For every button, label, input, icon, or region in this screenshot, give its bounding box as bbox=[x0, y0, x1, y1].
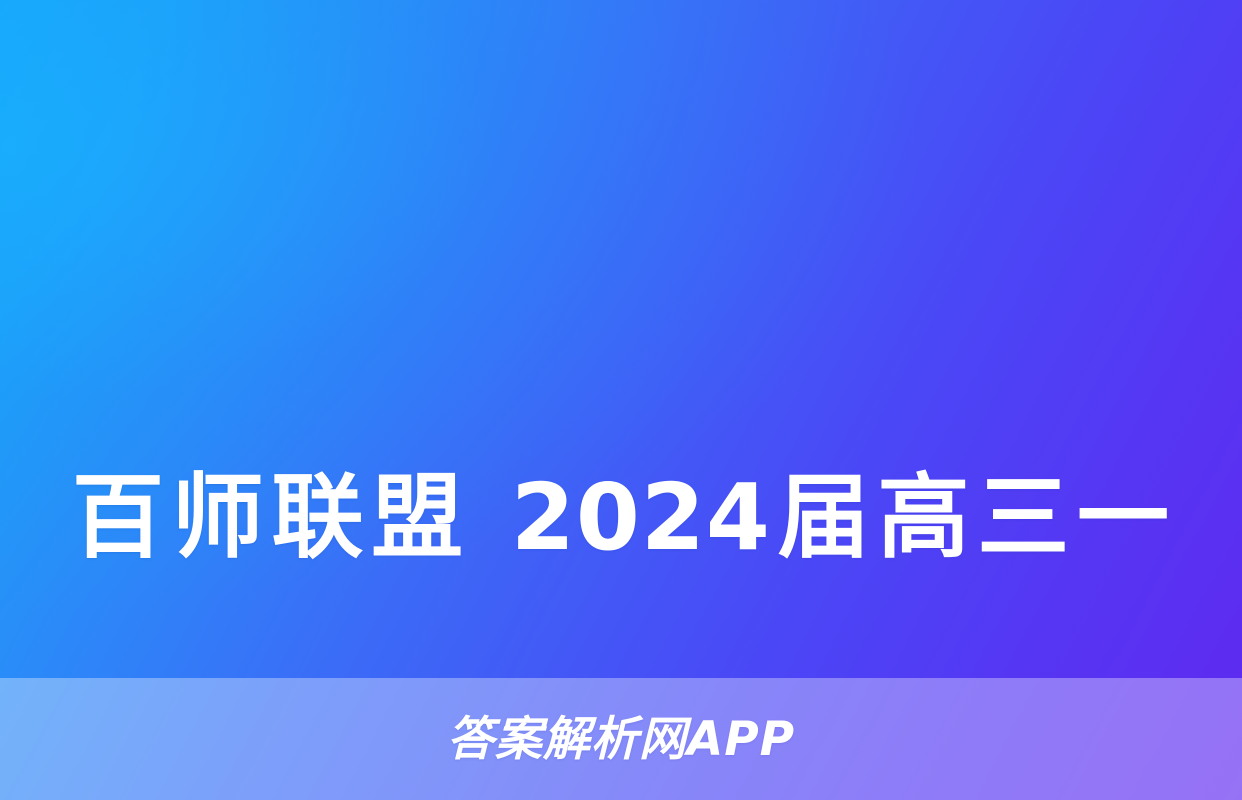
poster-canvas: 百师联盟 2024届高三一 轮复习联考(四)4 辽宁卷 地理答案 答案解析网AP… bbox=[0, 0, 1242, 800]
watermark-band: 答案解析网APP bbox=[0, 678, 1242, 800]
watermark-app-label: 答案解析网APP bbox=[447, 716, 795, 763]
page-title-line-1: 百师联盟 2024届高三一 bbox=[72, 448, 1170, 588]
